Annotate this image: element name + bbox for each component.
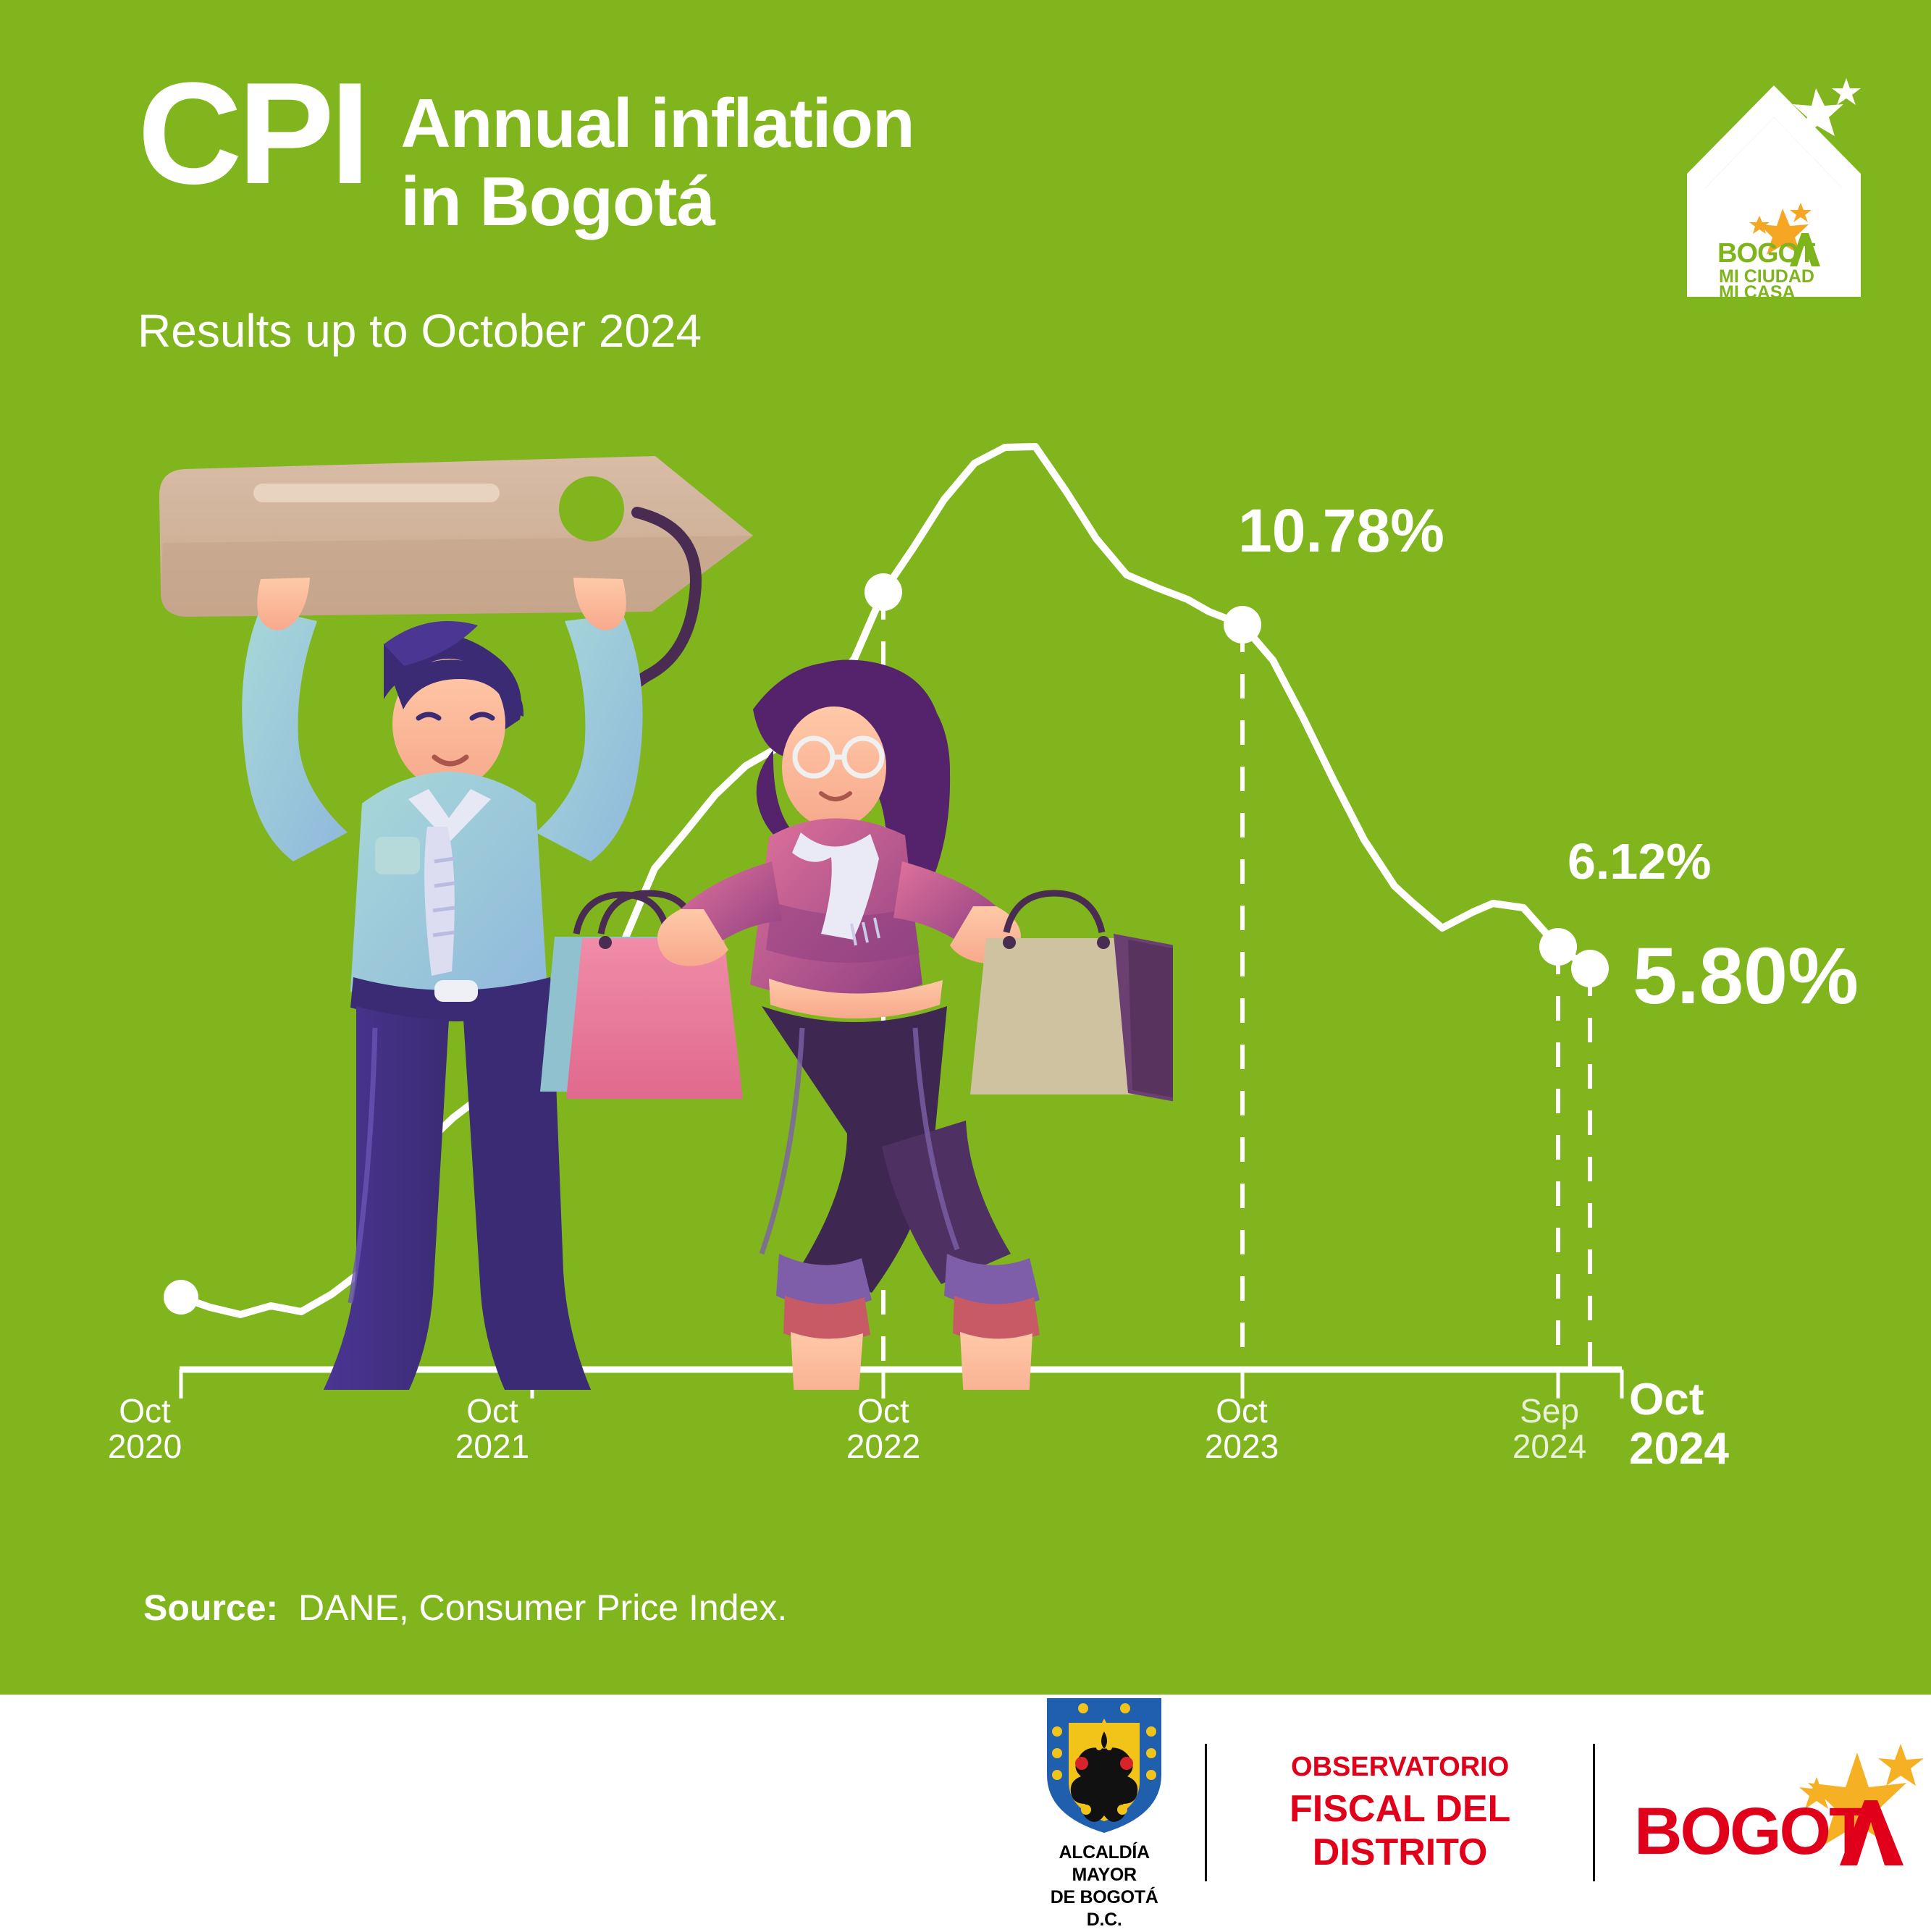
observatorio-line2: FISCAL DEL DISTRITO — [1239, 1787, 1560, 1874]
house-logo-svg: BOGOT MI CIUDAD MI CASA — [1680, 72, 1875, 297]
callout-previous-month: 6.12% — [1568, 832, 1711, 890]
alcaldia-logo: ALCALDÍA MAYOR DE BOGOTÁ D.C. — [1035, 1694, 1173, 1932]
page-title-acronym: CPI — [138, 69, 366, 199]
header-block: CPI Annual inflation in Bogotá — [138, 69, 914, 241]
x-axis-label-year: 2023 — [1173, 1429, 1311, 1464]
x-axis-label-oct-2024-current: Oct 2024 — [1629, 1375, 1796, 1474]
source-label: Source: — [143, 1587, 278, 1628]
footer-divider-2 — [1593, 1744, 1595, 1881]
shopping-couple-illustration — [145, 427, 1173, 1390]
x-axis-label-month: Oct — [1629, 1375, 1796, 1425]
page-subtitle: Results up to October 2024 — [138, 304, 702, 358]
x-axis-label-year: 2021 — [424, 1429, 561, 1464]
title-row: CPI Annual inflation in Bogotá — [138, 69, 914, 241]
x-axis-label-month: Oct — [76, 1393, 214, 1429]
x-axis-label-oct-2022: Oct 2022 — [815, 1393, 952, 1464]
x-axis-label-oct-2020: Oct 2020 — [76, 1393, 214, 1464]
alcaldia-caption-line2: DE BOGOTÁ D.C. — [1035, 1886, 1173, 1932]
bogota-house-logo: BOGOT MI CIUDAD MI CASA — [1680, 72, 1875, 297]
x-axis-label-year: 2022 — [815, 1429, 952, 1464]
page-title-line1: Annual inflation — [400, 85, 914, 163]
page-title-line2: in Bogotá — [400, 163, 914, 241]
x-axis-label-sep-2024: Sep 2024 — [1481, 1393, 1618, 1464]
x-axis-label-month: Sep — [1481, 1393, 1618, 1429]
x-axis-label-year: 2020 — [76, 1429, 214, 1464]
bogota-wordmark-svg: BOGOT — [1627, 1744, 1931, 1889]
illustration-svg — [145, 427, 1173, 1390]
data-point-oct-2024 — [1571, 950, 1609, 987]
source-text: DANE, Consumer Price Index. — [298, 1587, 787, 1628]
x-axis-label-year: 2024 — [1629, 1425, 1796, 1474]
callout-current-value: 5.80% — [1633, 930, 1859, 1022]
bogota-wordmark-text: BOGOT — [1634, 1794, 1869, 1868]
page-title: Annual inflation in Bogotá — [400, 85, 914, 241]
x-axis-label-oct-2021: Oct 2021 — [424, 1393, 561, 1464]
bogota-coat-of-arms-icon — [1040, 1694, 1169, 1836]
alcaldia-caption-line1: ALCALDÍA MAYOR — [1035, 1842, 1173, 1887]
data-point-oct-2023 — [1224, 606, 1261, 644]
x-axis-label-month: Oct — [1173, 1393, 1311, 1429]
observatorio-logo: OBSERVATORIO FISCAL DEL DISTRITO — [1239, 1752, 1560, 1874]
data-point-sep-2024 — [1539, 928, 1577, 966]
source-note: Source: DANE, Consumer Price Index. — [143, 1587, 787, 1629]
svg-text:MI CASA: MI CASA — [1719, 282, 1796, 297]
x-axis-label-oct-2023: Oct 2023 — [1173, 1393, 1311, 1464]
callout-peak-recent: 10.78% — [1238, 496, 1444, 566]
footer-divider-1 — [1205, 1744, 1207, 1881]
footer-logos: ALCALDÍA MAYOR DE BOGOTÁ D.C. OBSERVATOR… — [1035, 1716, 1931, 1909]
infographic-canvas: CPI Annual inflation in Bogotá Results u… — [0, 0, 1931, 1931]
alcaldia-caption: ALCALDÍA MAYOR DE BOGOTÁ D.C. — [1035, 1842, 1173, 1932]
observatorio-line1: OBSERVATORIO — [1239, 1752, 1560, 1783]
bogota-red-logo: BOGOT — [1627, 1744, 1931, 1881]
x-axis-label-month: Oct — [815, 1393, 952, 1429]
footer-bar: ALCALDÍA MAYOR DE BOGOTÁ D.C. OBSERVATOR… — [0, 1695, 1931, 1931]
x-axis-label-year: 2024 — [1481, 1429, 1618, 1464]
x-axis-label-month: Oct — [424, 1393, 561, 1429]
